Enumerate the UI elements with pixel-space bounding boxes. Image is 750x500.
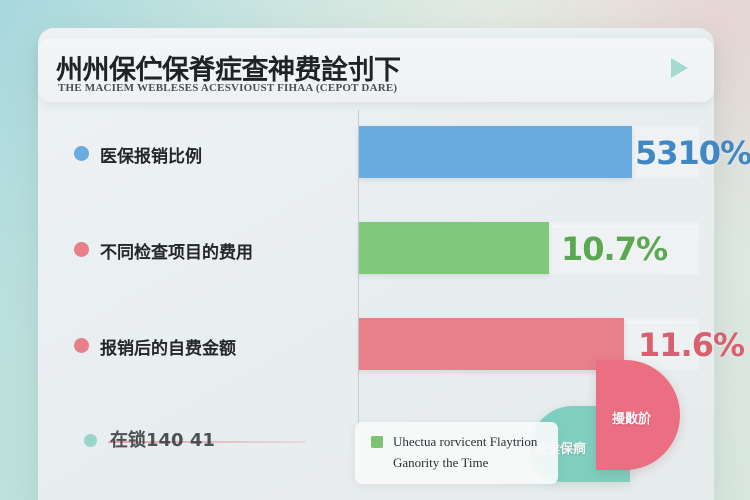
chart-row[interactable]: 不同检查项目的费用 10.7% bbox=[38, 206, 714, 296]
legend-swatch-icon bbox=[371, 436, 383, 448]
chart-row-label: 不同检查项目的费用 bbox=[100, 238, 253, 263]
legend-line-2: Ganority the Time bbox=[393, 455, 488, 470]
series-dot-icon bbox=[74, 146, 89, 161]
bar-value-label: 10.7% bbox=[561, 230, 667, 268]
chart-legend: Uhectua rorvicent Flaytrion Ganority the… bbox=[355, 422, 558, 484]
bar-medical-reimbursement[interactable] bbox=[359, 126, 632, 178]
bar-value-label: 11.6% bbox=[638, 326, 744, 364]
chart-row[interactable]: 医保报销比例 5310% bbox=[38, 110, 714, 200]
legend-label: Uhectua rorvicent Flaytrion Ganority the… bbox=[393, 431, 551, 473]
series-dot-icon bbox=[74, 338, 89, 353]
pie-chart: 摱贁斺 敊侯保痌 bbox=[560, 360, 730, 500]
bar-value-label: 5310% bbox=[635, 134, 750, 172]
pie-slice-label-pink: 摱贁斺 bbox=[612, 408, 651, 427]
play-icon[interactable] bbox=[671, 58, 688, 78]
legend-line-1: Uhectua rorvicent Flaytrion bbox=[393, 434, 537, 449]
page-subtitle: THE MACIEM WEBLESES ACESVIOUST FIHAA (CE… bbox=[58, 82, 397, 94]
bar-exam-cost[interactable] bbox=[359, 222, 549, 274]
chart-row-label: 报销后的自费金额 bbox=[100, 334, 236, 359]
footnote-label: 在锁140 41 bbox=[110, 426, 215, 452]
footnote-dot-icon bbox=[84, 434, 97, 447]
series-dot-icon bbox=[74, 242, 89, 257]
header-card: 州州保伫保脊症查神费詮刌下 THE MACIEM WEBLESES ACESVI… bbox=[38, 38, 714, 102]
chart-row-label: 医保报销比例 bbox=[100, 142, 202, 167]
